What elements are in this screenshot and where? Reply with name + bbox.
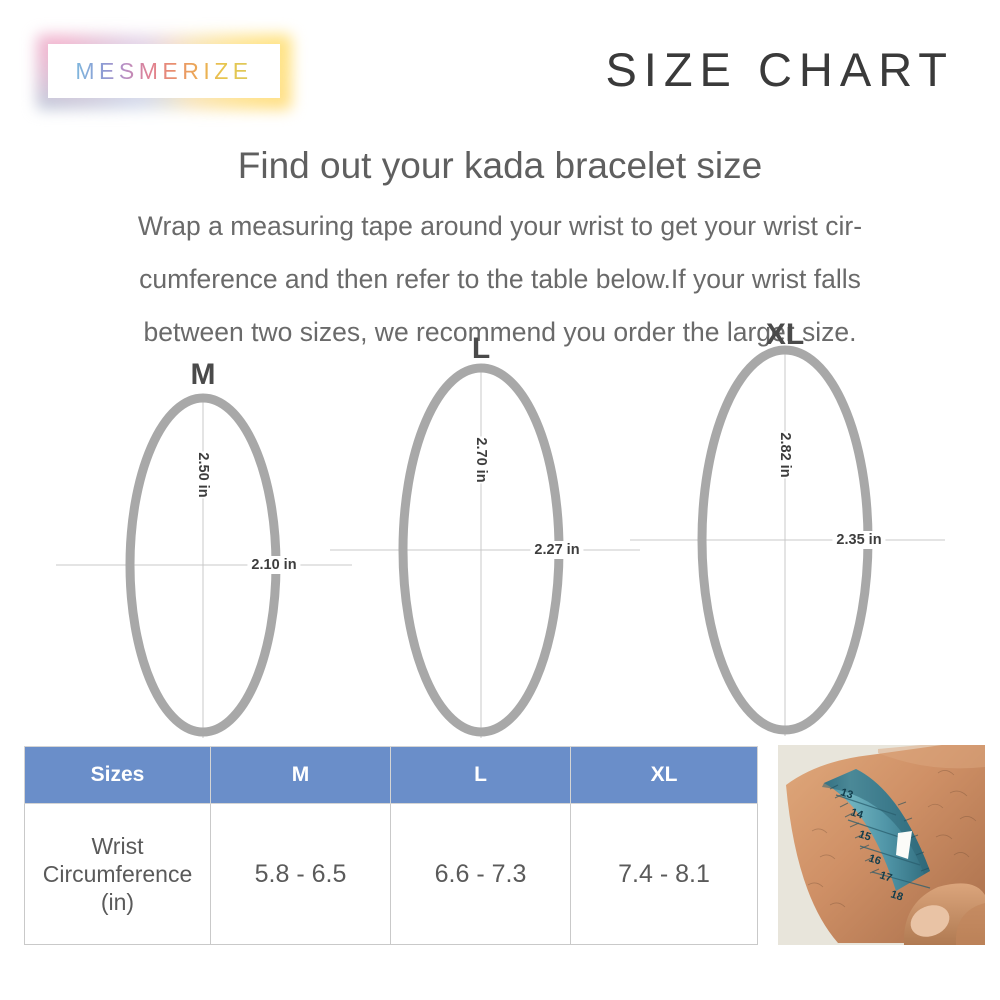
page-title: SIZE CHART — [605, 42, 954, 97]
intro-line-1: Wrap a measuring tape around your wrist … — [44, 200, 956, 253]
oval-height-label-l: 2.70 in — [469, 436, 493, 483]
row-label-line-2: Circumference — [26, 860, 209, 888]
oval-width-label-l: 2.27 in — [530, 541, 583, 559]
oval-group-l — [330, 368, 640, 738]
size-table: Sizes M L XL Wrist Circumference (in) 5.… — [24, 746, 758, 945]
intro-line-2: cumference and then refer to the table b… — [44, 253, 956, 306]
table-header-row: Sizes M L XL — [25, 747, 758, 804]
size-chart-page: MESMERIZE SIZE CHART Find out your kada … — [0, 0, 1000, 1000]
row-label-line-1: Wrist — [26, 832, 209, 860]
table-header-sizes: Sizes — [25, 747, 211, 804]
wrist-photo-illustration: 13 14 15 16 17 18 — [778, 745, 985, 945]
logo-card: MESMERIZE — [48, 44, 280, 98]
oval-size-label-xl: XL — [766, 318, 804, 352]
intro-paragraph: Wrap a measuring tape around your wrist … — [44, 200, 956, 359]
oval-group-m — [56, 396, 352, 738]
table-row: Wrist Circumference (in) 5.8 - 6.5 6.6 -… — [25, 804, 758, 945]
section-heading: Find out your kada bracelet size — [0, 145, 1000, 187]
oval-height-label-m: 2.50 in — [191, 451, 215, 498]
oval-width-label-m: 2.10 in — [247, 556, 300, 574]
oval-width-label-xl: 2.35 in — [832, 531, 885, 549]
oval-size-label-l: L — [472, 332, 490, 366]
oval-height-label-xl: 2.82 in — [773, 431, 797, 478]
row-label-line-3: (in) — [26, 888, 209, 916]
brand-logo: MESMERIZE — [36, 34, 292, 110]
table-header-l: L — [391, 747, 571, 804]
cell-wrist-m: 5.8 - 6.5 — [211, 804, 391, 945]
wrist-measurement-photo: 13 14 15 16 17 18 — [778, 745, 985, 945]
cell-wrist-xl: 7.4 - 8.1 — [571, 804, 758, 945]
table-header-m: M — [211, 747, 391, 804]
oval-diagram-group: M 2.50 in 2.10 in L 2.70 in 2.27 in XL 2… — [0, 340, 1000, 740]
cell-wrist-l: 6.6 - 7.3 — [391, 804, 571, 945]
logo-wordmark: MESMERIZE — [75, 58, 252, 85]
oval-size-label-m: M — [191, 358, 216, 392]
row-label-wrist-circumference: Wrist Circumference (in) — [25, 804, 211, 945]
oval-group-xl — [630, 350, 945, 736]
table-header-xl: XL — [571, 747, 758, 804]
